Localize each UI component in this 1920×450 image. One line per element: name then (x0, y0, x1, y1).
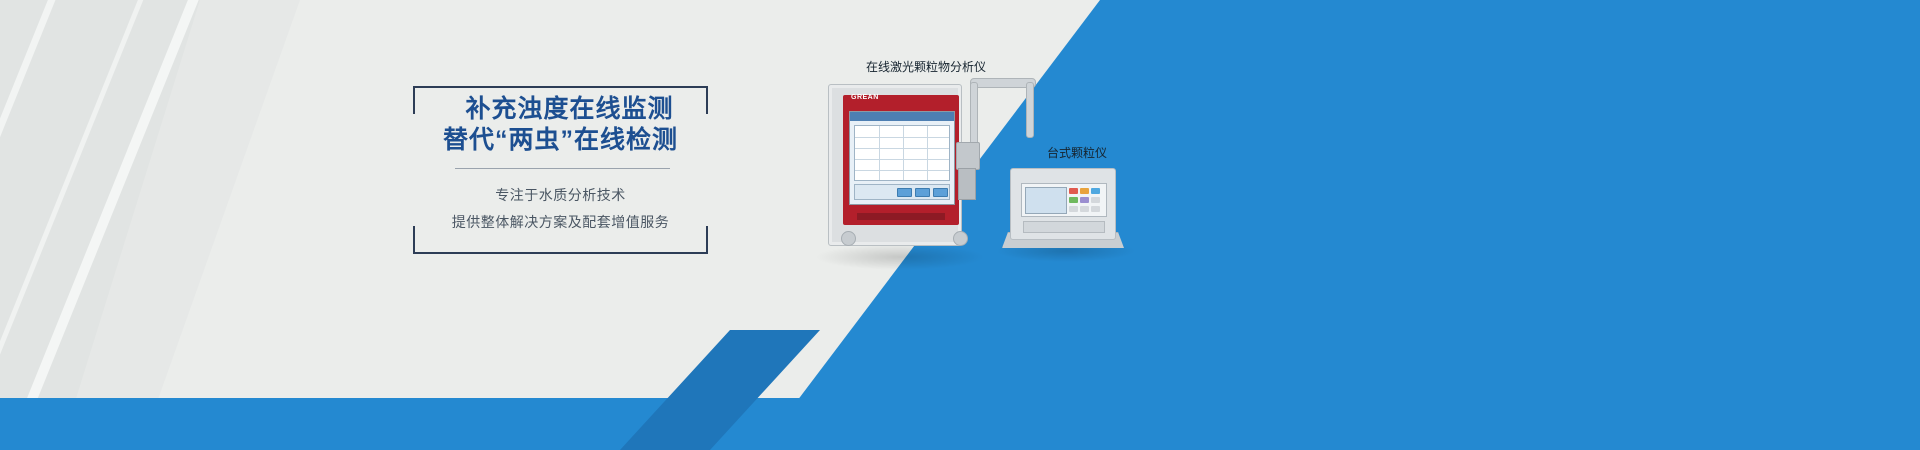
analyzer-body: GREAN (828, 84, 962, 246)
analyzer-screen (849, 111, 955, 205)
subtitle-line-2: 提供整体解决方案及配套增值服务 (413, 209, 708, 236)
analyzer-screen-buttonbar (854, 184, 950, 200)
bench-vent (1023, 221, 1105, 233)
frame-edge-bottom (439, 252, 682, 254)
analyzer-knob-left (841, 231, 856, 246)
analyzer-brand-text: GREAN (851, 94, 879, 101)
analyzer-company-strip (857, 213, 945, 220)
analyzer-knob-right (953, 231, 968, 246)
analyzer-screen-titlebar (850, 112, 954, 121)
frame-edge-top (439, 86, 682, 88)
subtitle: 专注于水质分析技术 提供整体解决方案及配套增值服务 (413, 182, 708, 237)
bench-display (1025, 187, 1067, 214)
hero-banner: 补充浊度在线监测 替代“两虫”在线检测 专注于水质分析技术 提供整体解决方案及配… (0, 0, 1920, 450)
headline-line-2: 替代“两虫”在线检测 (413, 125, 708, 156)
headline: 补充浊度在线监测 替代“两虫”在线检测 (413, 94, 708, 155)
headline-line-1: 补充浊度在线监测 (413, 94, 708, 125)
bench-housing (1010, 168, 1116, 240)
analyzer-tube-right (1026, 82, 1034, 138)
subtitle-line-1: 专注于水质分析技术 (413, 182, 708, 209)
analyzer-front-panel: GREAN (843, 95, 959, 225)
analyzer-label: 在线激光颗粒物分析仪 (866, 58, 986, 75)
analyzer-tube-left (970, 82, 978, 150)
analyzer-screen-datagrid (854, 125, 950, 181)
bottom-blue-band (0, 398, 1920, 450)
headline-block: 补充浊度在线监测 替代“两虫”在线检测 专注于水质分析技术 提供整体解决方案及配… (413, 86, 708, 254)
headline-divider (455, 168, 670, 169)
benchtop-particle-counter (1002, 168, 1124, 250)
analyzer-side-connector (958, 168, 976, 200)
bench-label: 台式颗粒仪 (1047, 144, 1107, 161)
analyzer-side-port (956, 142, 980, 170)
bench-control-panel (1021, 183, 1107, 217)
online-laser-particle-analyzer: GREAN (820, 84, 968, 254)
bench-keypad (1069, 188, 1103, 212)
